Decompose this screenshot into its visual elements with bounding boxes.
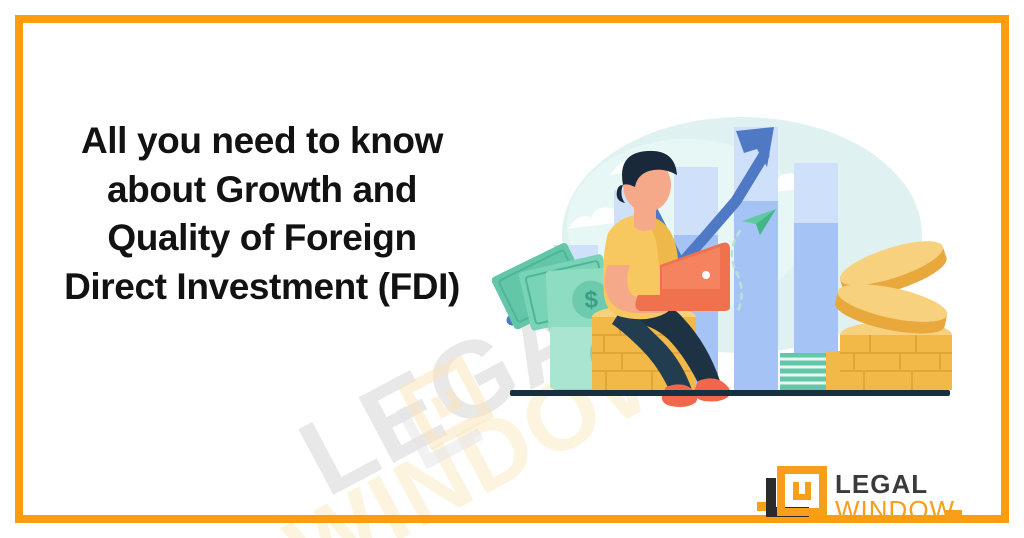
logo-word-window: WINDOW — [835, 495, 955, 525]
legal-window-logo[interactable]: LEGAL WINDOW — [757, 466, 962, 528]
banner-canvas: LEGAL WINDOW All you need to know about … — [0, 0, 1024, 538]
ground-line — [510, 390, 950, 396]
fdi-growth-illustration: $ $ — [492, 105, 972, 410]
logo-square-icon — [781, 470, 823, 512]
svg-text:$: $ — [584, 286, 599, 314]
page-title: All you need to know about Growth and Qu… — [52, 117, 472, 312]
watermark-logo-mark-icon — [387, 353, 503, 469]
logo-right-bar — [945, 510, 962, 519]
